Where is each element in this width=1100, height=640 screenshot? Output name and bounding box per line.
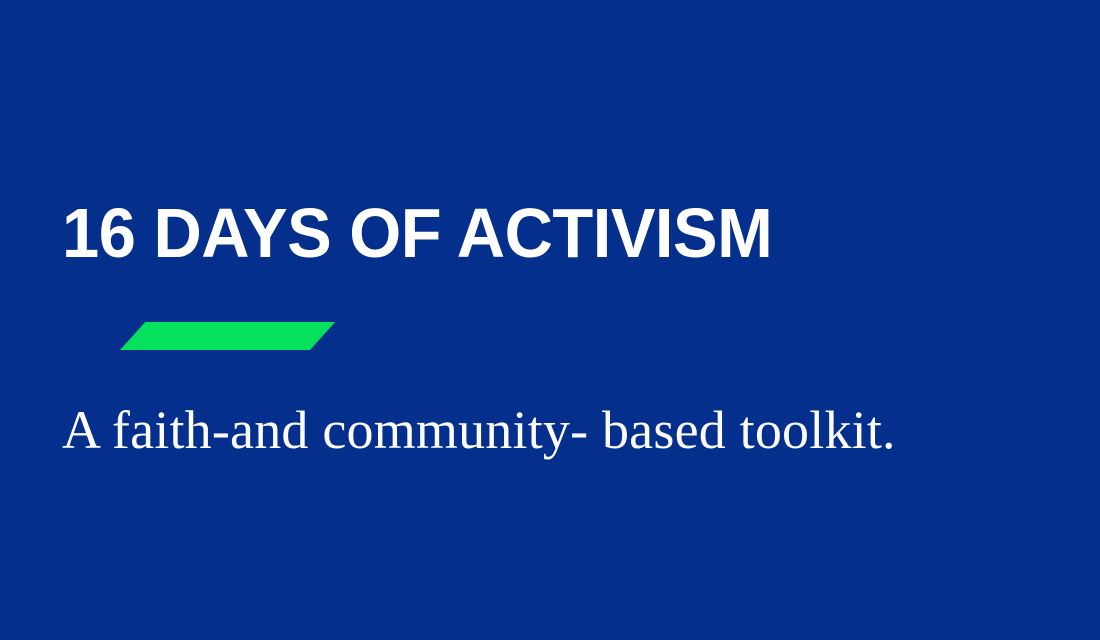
- title-slide: 16 DAYS OF ACTIVISM A faith-and communit…: [0, 0, 1100, 640]
- accent-container: [62, 322, 1060, 350]
- page-subtitle: A faith-and community- based toolkit.: [62, 400, 1060, 460]
- page-title: 16 DAYS OF ACTIVISM: [62, 196, 1015, 270]
- slide-content: 16 DAYS OF ACTIVISM A faith-and communit…: [62, 196, 1060, 460]
- green-parallelogram-accent: [120, 322, 335, 350]
